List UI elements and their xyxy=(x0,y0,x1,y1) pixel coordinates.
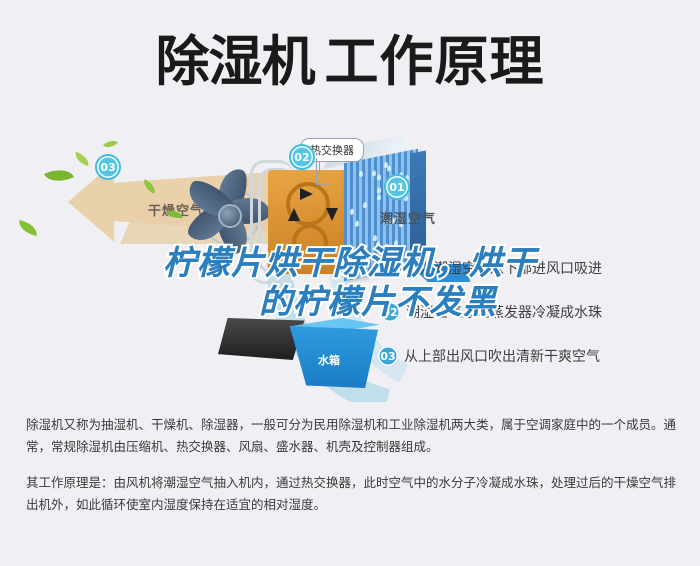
leaf-icon xyxy=(17,220,39,236)
title-part-b: 工作原理 xyxy=(325,30,545,93)
condensation-droplet-icon xyxy=(385,243,389,250)
callout-stem xyxy=(316,158,329,185)
step-badge-01: 01 xyxy=(380,258,400,278)
step-label-01: 室内潮湿空气从下部进风口吸进 xyxy=(406,258,602,278)
condensation-droplet-icon xyxy=(394,239,398,246)
condensation-droplet-icon xyxy=(379,247,383,254)
step-badge-02: 02 xyxy=(380,302,400,322)
condensation-droplet-icon xyxy=(377,174,381,181)
leaf-icon xyxy=(73,152,91,166)
condensation-droplet-icon xyxy=(377,194,381,201)
page-root: 除湿机工作原理 干燥空气 xyxy=(0,0,700,566)
condensation-droplet-icon xyxy=(355,220,359,227)
body-paragraph-2: 其工作原理是：由风机将潮湿空气抽入机内，通过热交换器，此时空气中的水分子冷凝成水… xyxy=(26,472,676,516)
body-paragraph-1: 除湿机又称为抽湿机、干燥机、除湿器，一般可分为民用除湿机和工业除湿机两大类，属于… xyxy=(26,414,676,458)
condensation-droplet-icon xyxy=(387,165,391,172)
condensation-droplet-icon xyxy=(373,234,377,241)
title-text: 除湿机工作原理 xyxy=(156,35,545,89)
condensation-droplet-icon xyxy=(363,202,367,209)
diagram-illustration: 干燥空气 xyxy=(0,112,700,402)
flow-arrow-right-icon xyxy=(300,188,313,200)
leaf-icon xyxy=(44,163,74,187)
step-item-01: 01 室内潮湿空气从下部进风口吸进 xyxy=(380,258,602,278)
condensation-droplet-icon xyxy=(377,187,381,194)
page-title: 除湿机工作原理 xyxy=(0,22,700,102)
diagram-badge-01: 01 xyxy=(384,174,410,200)
condensation-droplet-icon xyxy=(372,170,376,177)
water-tank-label: 水箱 xyxy=(318,352,340,368)
diagram-badge-02: 02 xyxy=(289,144,315,170)
flow-arrow-up-icon xyxy=(288,208,300,221)
wet-air-label: 潮湿空气 xyxy=(380,208,436,227)
step-badge-03: 03 xyxy=(378,346,398,366)
fan-hub xyxy=(218,204,242,228)
step-label-03: 从上部出风口吹出清新干爽空气 xyxy=(404,346,600,366)
leaf-icon xyxy=(103,137,118,151)
step-label-02: 潮湿空气经过蒸发器冷凝成水珠 xyxy=(406,302,602,322)
step-item-02: 02 潮湿空气经过蒸发器冷凝成水珠 xyxy=(380,302,602,322)
diagram-badge-03: 03 xyxy=(95,154,121,180)
title-part-a: 除湿机 xyxy=(156,30,315,93)
coil-loop-icon xyxy=(292,224,328,262)
flow-arrow-down-icon xyxy=(326,208,338,221)
condensation-droplet-icon xyxy=(350,208,354,215)
condensation-droplet-icon xyxy=(359,171,363,178)
body-text-block: 除湿机又称为抽湿机、干燥机、除湿器，一般可分为民用除湿机和工业除湿机两大类，属于… xyxy=(26,414,676,530)
step-item-03: 03 从上部出风口吹出清新干爽空气 xyxy=(378,346,600,366)
